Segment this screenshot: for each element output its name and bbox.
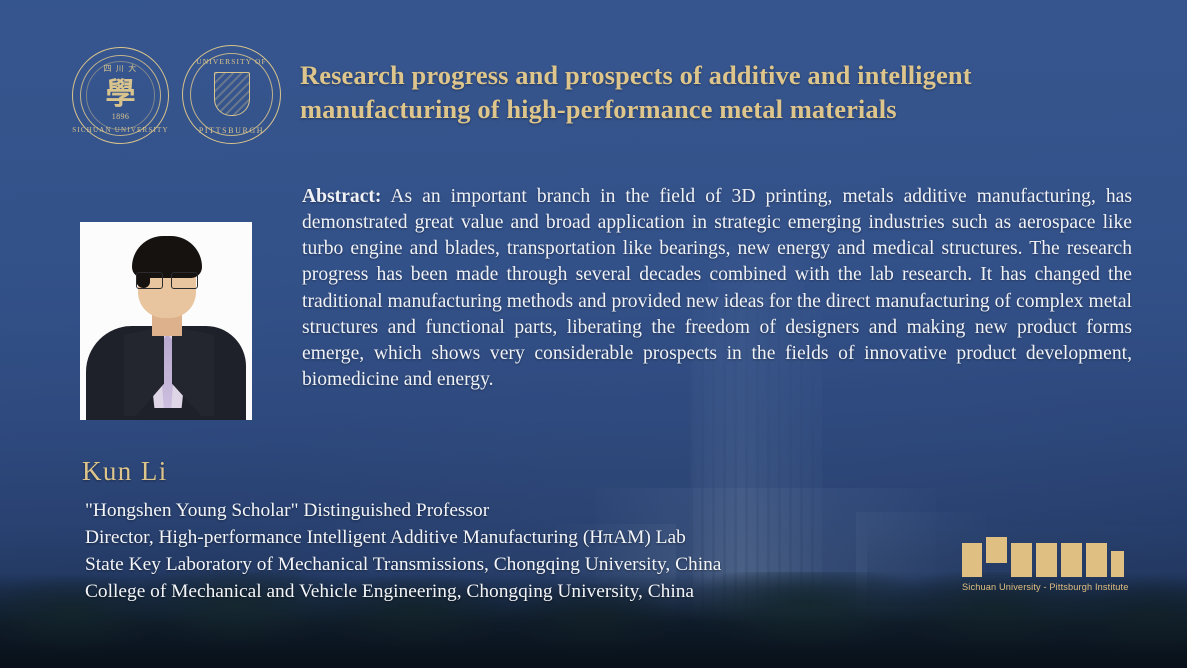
scupi-subtitle: Sichuan University - Pittsburgh Institut… <box>962 582 1127 592</box>
sichuan-university-seal-icon: 四 川 大 學 1896 SICHUAN UNIVERSITY <box>72 47 169 144</box>
seal-center-glyph: 學 <box>106 79 136 109</box>
speaker-portrait-photo <box>80 222 252 420</box>
abstract-label: Abstract: <box>302 186 381 207</box>
scupi-block-6 <box>1086 543 1107 577</box>
seal-arc-top-label: UNIVERSITY OF <box>196 57 266 66</box>
seal-arc-bottom-label: SICHUAN UNIVERSITY <box>72 126 168 134</box>
speaker-name: Kun Li <box>82 456 168 487</box>
presentation-slide: 四 川 大 學 1896 SICHUAN UNIVERSITY UNIVERSI… <box>0 0 1187 668</box>
scupi-block-2 <box>986 537 1007 563</box>
affiliation-line: College of Mechanical and Vehicle Engine… <box>85 579 985 606</box>
scupi-wordmark-icon <box>962 537 1127 577</box>
university-of-pittsburgh-seal-icon: UNIVERSITY OF PITTSBURGH <box>182 45 281 144</box>
scupi-logo: Sichuan University - Pittsburgh Institut… <box>962 537 1127 592</box>
speaker-affiliations: "Hongshen Young Scholar" Distinguished P… <box>85 498 985 606</box>
scupi-block-4 <box>1036 543 1057 577</box>
affiliation-line: Director, High-performance Intelligent A… <box>85 525 985 552</box>
scupi-block-5 <box>1061 543 1082 577</box>
abstract-body: As an important branch in the field of 3… <box>302 186 1132 390</box>
affiliation-line: State Key Laboratory of Mechanical Trans… <box>85 552 985 579</box>
glasses-icon <box>136 272 198 289</box>
scupi-block-1 <box>962 543 982 577</box>
seal-arc-bottom-label: PITTSBURGH <box>199 126 264 135</box>
seal-arc-top-label: 四 川 大 <box>104 63 138 74</box>
scupi-block-3 <box>1011 543 1032 577</box>
shield-icon <box>214 72 250 116</box>
affiliation-line: "Hongshen Young Scholar" Distinguished P… <box>85 498 985 525</box>
abstract-text: Abstract: As an important branch in the … <box>302 184 1132 393</box>
scupi-block-7 <box>1111 551 1124 577</box>
seal-founding-year: 1896 <box>112 112 130 121</box>
page-title: Research progress and prospects of addit… <box>300 58 1140 127</box>
